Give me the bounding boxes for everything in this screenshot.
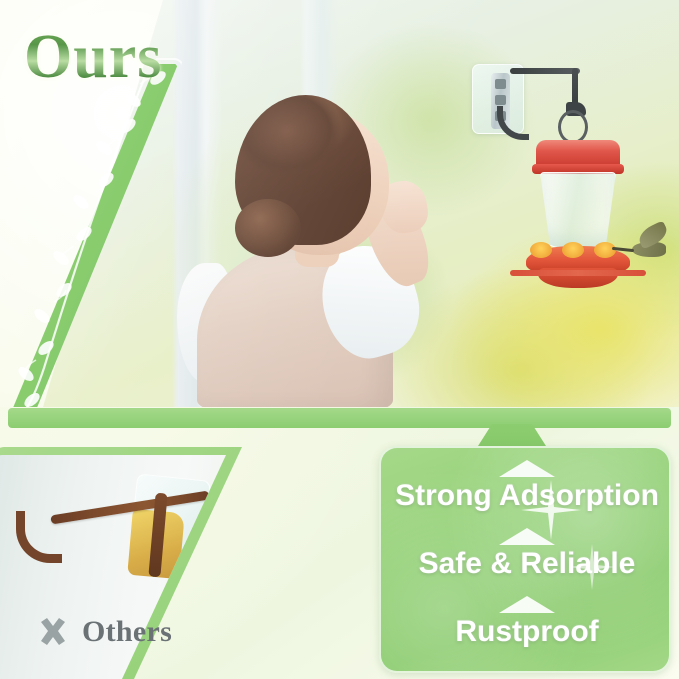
feeder-cap-lip [532, 164, 624, 174]
toddler-left-sleeve [177, 263, 233, 383]
toddler-hair [235, 95, 371, 245]
feature-label: Rustproof [455, 617, 598, 647]
toddler-ear [318, 171, 345, 205]
toddler-hair-bun [235, 199, 301, 257]
x-mark-icon [36, 615, 70, 649]
feature-item-0: Strong Adsorption [381, 460, 671, 511]
caret-up-icon [499, 596, 555, 613]
metal-hook-arm [510, 68, 580, 74]
feature-benefits-panel: Strong Adsorption Safe & Reliable Rustpr… [379, 446, 671, 673]
lever-dot-mid [495, 95, 506, 105]
feature-label: Safe & Reliable [419, 549, 636, 579]
product-comparison-image: Ours Others Strong Adsorption [0, 0, 679, 679]
suction-lever [491, 73, 510, 129]
others-label-group: Others [36, 608, 276, 656]
rusty-hook-figure [4, 475, 234, 605]
feeder-flower-port-center [562, 242, 584, 258]
hummingbird-beak [612, 247, 634, 252]
suction-cup-mount [472, 64, 524, 134]
caret-up-icon [499, 528, 555, 545]
red-feeding-base [526, 246, 630, 272]
metal-hook-drop [572, 68, 578, 110]
hummingbird [622, 228, 678, 262]
feeder-perch-bar [510, 270, 646, 276]
page-title-ours: Ours [24, 22, 162, 93]
rusted-hook-curl [16, 511, 62, 563]
hummingbird-wing [636, 220, 671, 249]
feeder-red-cap [536, 140, 620, 168]
lever-dot-bottom [495, 111, 506, 121]
leaf-vine-icon [6, 62, 178, 407]
window-hummingbird-feeder [470, 62, 670, 292]
others-label-text: Others [82, 615, 172, 649]
toddler-head [249, 109, 389, 255]
feeder-flower-port-right [594, 242, 616, 258]
caret-up-icon [499, 460, 555, 477]
feature-item-1: Safe & Reliable [381, 528, 671, 579]
metal-hook-tip [566, 102, 586, 116]
toddler-right-sleeve [309, 234, 430, 368]
section-divider-band [8, 408, 671, 428]
feature-item-2: Rustproof [381, 596, 671, 647]
feeder-tray [538, 268, 618, 288]
metal-hook-curl [497, 106, 529, 140]
feature-label: Strong Adsorption [395, 481, 659, 511]
toddler-hand [377, 177, 431, 236]
lever-dot-top [495, 79, 506, 89]
feeder-flower-port-left [530, 242, 552, 258]
toddler-figure [175, 95, 425, 407]
toddler-arm [355, 185, 439, 293]
feeder-hanging-ring [558, 110, 588, 144]
hummingbird-body [632, 242, 666, 257]
toddler-neck [295, 227, 339, 267]
toddler-dress [197, 245, 393, 407]
glass-nectar-jar [540, 172, 616, 250]
ours-panel: Ours [0, 0, 679, 407]
